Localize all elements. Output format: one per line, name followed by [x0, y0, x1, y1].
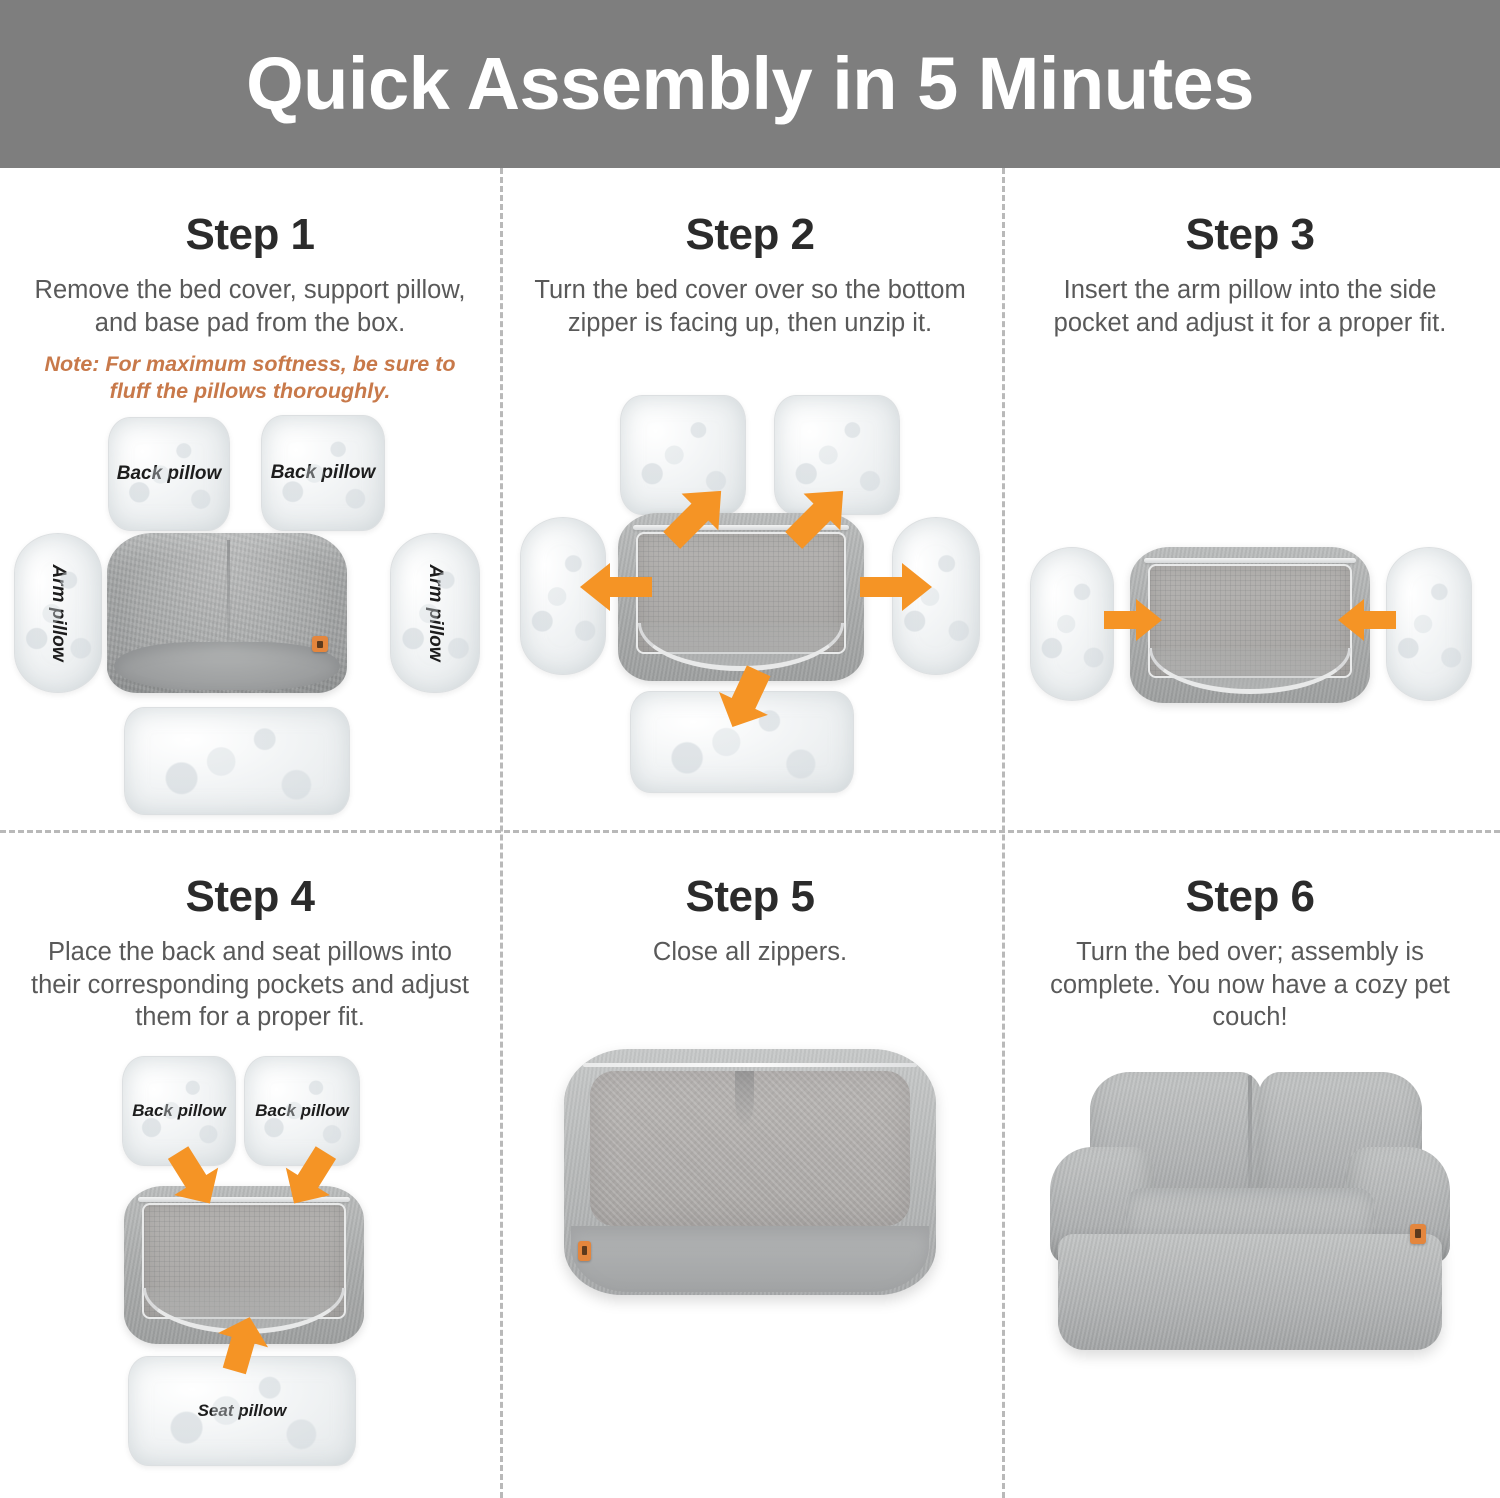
brand-tag-icon: [578, 1241, 591, 1261]
arrow-in-right: [1100, 593, 1166, 647]
top-zipper: [1144, 558, 1355, 563]
back-pillow-right-label: Back pillow: [245, 1101, 359, 1121]
bed-cover-seam: [227, 540, 230, 652]
arm-pillow-left-label: Arm pillow: [47, 533, 69, 693]
arrow-up-right: [774, 477, 860, 557]
step-6-description: Turn the bed over; assembly is complete.…: [1012, 936, 1488, 1034]
step-2-cell: Step 2 Turn the bed cover over so the bo…: [500, 168, 1000, 865]
seat-pillow: [124, 707, 350, 815]
brand-tag-icon: [312, 636, 328, 652]
step-5-cell: Step 5 Close all zippers.: [500, 830, 1000, 1449]
bed-center-notch: [735, 1071, 754, 1125]
step-4-cell: Step 4 Place the back and seat pillows i…: [0, 830, 500, 1476]
step-4-title: Step 4: [12, 872, 488, 922]
step-1-title: Step 1: [12, 210, 488, 260]
step-2-illustration: [512, 395, 988, 865]
arrow-left: [574, 555, 660, 619]
step-1-description: Remove the bed cover, support pillow, an…: [12, 274, 488, 339]
page-title: Quick Assembly in 5 Minutes: [246, 47, 1254, 121]
step-4-illustration: Back pillow Back pillow Seat pillow: [12, 1056, 488, 1476]
back-pillow-left-label: Back pillow: [109, 463, 229, 485]
page-header-banner: Quick Assembly in 5 Minutes: [0, 0, 1500, 168]
step-6-illustration: [1012, 1056, 1488, 1476]
step-4-description: Place the back and seat pillows into the…: [12, 936, 488, 1034]
step-3-illustration: [1012, 395, 1488, 865]
assembled-bed-upside-down: [564, 1049, 936, 1295]
step-1-note: Note: For maximum softness, be sure to f…: [12, 351, 488, 405]
bed-skirt: [571, 1226, 928, 1292]
step-3-cell: Step 3 Insert the arm pillow into the si…: [1000, 168, 1500, 865]
arrow-down-right: [274, 1140, 346, 1216]
arrow-right: [852, 555, 938, 619]
step-6-cell: Step 6 Turn the bed over; assembly is co…: [1000, 830, 1500, 1476]
back-pillow-left: Back pillow: [108, 417, 230, 531]
steps-grid: Step 1 Remove the bed cover, support pil…: [0, 168, 1500, 1498]
step-1-cell: Step 1 Remove the bed cover, support pil…: [0, 168, 500, 831]
arrow-down-left: [158, 1140, 230, 1216]
step-5-description: Close all zippers.: [512, 936, 988, 969]
step-5-illustration: [512, 1029, 988, 1449]
back-pillow-right: Back pillow: [261, 415, 385, 531]
arm-pillow-right: Arm pillow: [390, 533, 480, 693]
step-6-title: Step 6: [1012, 872, 1488, 922]
bed-cover: [107, 533, 347, 693]
arrow-in-left: [1334, 593, 1400, 647]
arm-pillow-left: Arm pillow: [14, 533, 102, 693]
bed-top-rim: [583, 1063, 918, 1067]
bed-cover-lip: [114, 642, 340, 690]
brand-tag-icon: [1410, 1224, 1426, 1244]
finished-pet-couch: [1050, 1066, 1450, 1356]
arrow-up-seat: [210, 1308, 274, 1380]
step-5-title: Step 5: [512, 872, 988, 922]
step-2-title: Step 2: [512, 210, 988, 260]
bed-body: [564, 1049, 936, 1295]
arrow-down: [710, 657, 782, 739]
step-3-description: Insert the arm pillow into the side pock…: [1012, 274, 1488, 339]
step-2-description: Turn the bed cover over so the bottom zi…: [512, 274, 988, 339]
couch-base: [1058, 1234, 1442, 1350]
step-1-illustration: Back pillow Back pillow Arm pillow Arm p…: [12, 411, 488, 831]
bottom-zipper-open: [1149, 648, 1351, 694]
arm-pillow-right-label: Arm pillow: [424, 533, 446, 693]
back-pillow-left-label: Back pillow: [123, 1101, 235, 1121]
seat-pillow-label: Seat pillow: [129, 1401, 355, 1421]
arrow-up-left: [652, 477, 738, 557]
back-pillow-right-label: Back pillow: [262, 462, 384, 484]
step-3-title: Step 3: [1012, 210, 1488, 260]
